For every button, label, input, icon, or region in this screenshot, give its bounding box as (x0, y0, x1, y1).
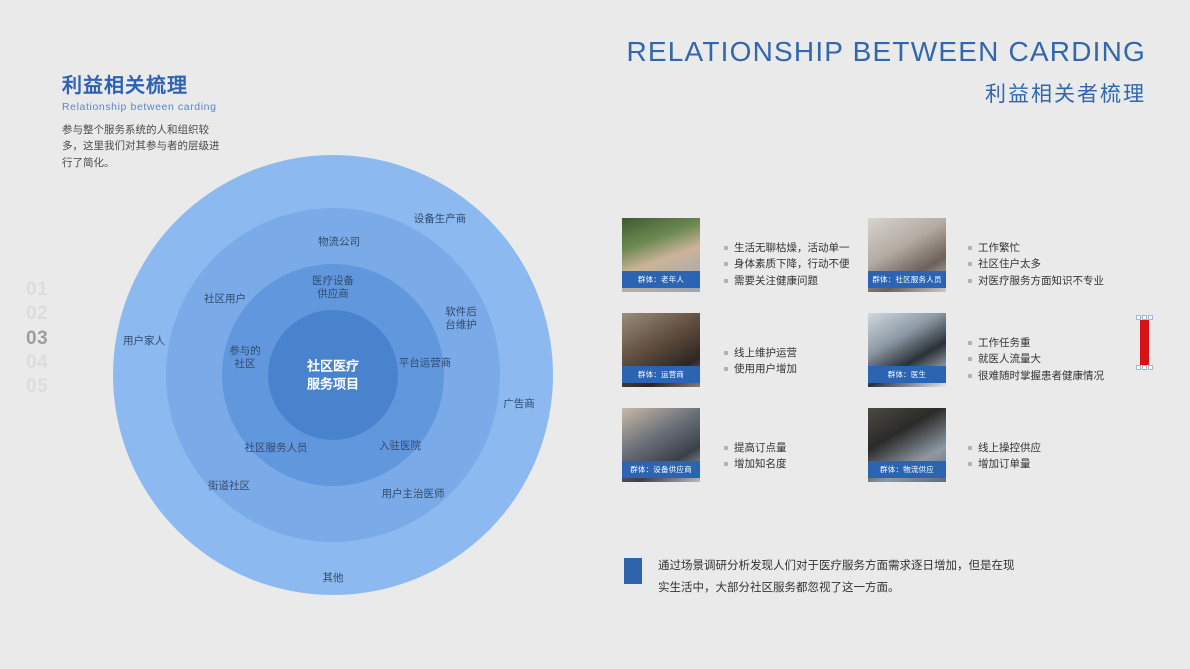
bullet-text: 对医疗服务方面知识不专业 (978, 273, 1104, 289)
bullet-text: 使用用户增加 (734, 361, 797, 377)
left-heading-en: Relationship between carding (62, 101, 272, 113)
bullet-text: 线上操控供应 (978, 440, 1041, 456)
circle-core-label-line2: 服务项目 (307, 375, 359, 393)
persona-thumb-wrap[interactable]: 群体：老年人 (622, 218, 700, 292)
bullet-text: 线上维护运营 (734, 345, 797, 361)
page-title-zh: 利益相关者梳理 (985, 78, 1146, 108)
persona-bullets-equipment-supplier: 提高订点量 增加知名度 (724, 408, 787, 473)
bullet-item: 很难随时掌握患者健康情况 (968, 368, 1104, 384)
bullet-item: 对医疗服务方面知识不专业 (968, 273, 1104, 289)
bullet-item: 增加知名度 (724, 456, 787, 472)
persona-card-elderly[interactable]: 群体：老年人 生活无聊枯燥，活动单一 身体素质下降，行动不便 需要关注健康问题 (622, 218, 868, 292)
bullet-dot-icon (724, 279, 728, 283)
persona-thumb-wrap[interactable]: 群体：物流供应 (868, 408, 946, 482)
circle-label-software-backend-2: 台维护 (445, 318, 477, 332)
resize-handle-bottom-center[interactable] (1142, 365, 1147, 370)
bullet-text: 就医人流量大 (978, 351, 1041, 367)
persona-card-equipment-supplier[interactable]: 群体：设备供应商 提高订点量 增加知名度 (622, 408, 868, 482)
resize-handle-top-right[interactable] (1148, 315, 1153, 320)
bullet-text: 身体素质下降，行动不便 (734, 256, 850, 272)
persona-grid: 群体：老年人 生活无聊枯燥，活动单一 身体素质下降，行动不便 需要关注健康问题 … (622, 218, 1152, 503)
bullet-text: 需要关注健康问题 (734, 273, 818, 289)
persona-bullets-logistics: 线上操控供应 增加订单量 (968, 408, 1041, 473)
bullet-text: 工作繁忙 (978, 240, 1020, 256)
bullet-dot-icon (724, 246, 728, 250)
bullet-dot-icon (968, 357, 972, 361)
resize-handle-top-center[interactable] (1142, 315, 1147, 320)
resize-handle-bottom-left[interactable] (1136, 365, 1141, 370)
bullet-item: 提高订点量 (724, 440, 787, 456)
circle-label-attending-doctor: 用户主治医师 (382, 487, 445, 501)
circle-core-label-line1: 社区医疗 (307, 357, 359, 375)
circle-label-user-family: 用户家人 (123, 334, 165, 348)
persona-card-community-staff[interactable]: 群体：社区服务人员 工作繁忙 社区住户太多 对医疗服务方面知识不专业 (868, 218, 1114, 292)
note-accent-bar (624, 558, 642, 584)
bullet-dot-icon (968, 462, 972, 466)
bullet-text: 很难随时掌握患者健康情况 (978, 368, 1104, 384)
persona-card-doctor[interactable]: 群体：医生 工作任务重 就医人流量大 很难随时掌握患者健康情况 (868, 313, 1114, 387)
bullet-text: 提高订点量 (734, 440, 787, 456)
persona-badge-community-staff: 群体：社区服务人员 (868, 271, 946, 288)
step-number-04[interactable]: 04 (26, 351, 66, 375)
persona-bullets-elderly: 生活无聊枯燥，活动单一 身体素质下降，行动不便 需要关注健康问题 (724, 218, 850, 289)
slide-canvas: 利益相关梳理 Relationship between carding 参与整个… (0, 0, 1190, 669)
circle-label-resident-hospital: 入驻医院 (379, 439, 421, 453)
bullet-dot-icon (724, 262, 728, 266)
note-text-line1: 通过场景调研分析发现人们对于医疗服务方面需求逐日增加，但是在现 (658, 556, 1098, 578)
bullet-dot-icon (724, 462, 728, 466)
bullet-text: 工作任务重 (978, 335, 1031, 351)
note-text-line2: 实生活中，大部分社区服务都忽视了这一方面。 (658, 578, 1098, 600)
step-number-01[interactable]: 01 (26, 278, 66, 302)
persona-row-2: 群体：运营商 线上维护运营 使用用户增加 群体：医生 工作任务重 就医人流量大 (622, 313, 1152, 387)
bullet-text: 社区住户太多 (978, 256, 1041, 272)
circle-label-community-user: 社区用户 (204, 292, 246, 306)
step-number-03[interactable]: 03 (26, 327, 66, 351)
step-number-02[interactable]: 02 (26, 302, 66, 326)
page-title-en: RELATIONSHIP BETWEEN CARDING (626, 36, 1146, 68)
persona-thumb-wrap[interactable]: 群体：医生 (868, 313, 946, 387)
circle-label-street-community: 街道社区 (208, 479, 250, 493)
persona-card-logistics[interactable]: 群体：物流供应 线上操控供应 增加订单量 (868, 408, 1114, 482)
bullet-item: 工作任务重 (968, 335, 1104, 351)
circle-label-logistics-company: 物流公司 (318, 235, 360, 249)
persona-badge-equipment-supplier: 群体：设备供应商 (622, 461, 700, 478)
circle-label-other: 其他 (323, 571, 344, 585)
left-heading-zh: 利益相关梳理 (62, 74, 272, 98)
circle-label-advertiser: 广告商 (503, 397, 535, 411)
bullet-item: 生活无聊枯燥，活动单一 (724, 240, 850, 256)
bullet-text: 增加订单量 (978, 456, 1031, 472)
circle-label-community-staff: 社区服务人员 (245, 441, 308, 455)
bullet-text: 生活无聊枯燥，活动单一 (734, 240, 850, 256)
left-heading-block: 利益相关梳理 Relationship between carding (62, 74, 272, 113)
persona-badge-operator: 群体：运营商 (622, 366, 700, 383)
bullet-dot-icon (968, 279, 972, 283)
bullet-dot-icon (968, 374, 972, 378)
bullet-item: 社区住户太多 (968, 256, 1104, 272)
circle-label-participating-community-2: 社区 (235, 357, 256, 371)
persona-bullets-doctor: 工作任务重 就医人流量大 很难随时掌握患者健康情况 (968, 313, 1104, 384)
circle-core-label: 社区医疗 服务项目 (307, 357, 359, 392)
persona-thumb-wrap[interactable]: 群体：运营商 (622, 313, 700, 387)
bullet-item: 需要关注健康问题 (724, 273, 850, 289)
bullet-item: 身体素质下降，行动不便 (724, 256, 850, 272)
bullet-item: 线上维护运营 (724, 345, 797, 361)
step-number-05[interactable]: 05 (26, 375, 66, 399)
persona-thumb-wrap[interactable]: 群体：设备供应商 (622, 408, 700, 482)
persona-row-1: 群体：老年人 生活无聊枯燥，活动单一 身体素质下降，行动不便 需要关注健康问题 … (622, 218, 1152, 292)
step-number-list: 01 02 03 04 05 (26, 278, 66, 400)
circle-label-platform-operator: 平台运营商 (399, 356, 452, 370)
circle-label-medical-device-2: 供应商 (317, 287, 349, 301)
bullet-dot-icon (724, 367, 728, 371)
bullet-dot-icon (968, 246, 972, 250)
bullet-dot-icon (968, 262, 972, 266)
resize-handle-bottom-right[interactable] (1148, 365, 1153, 370)
persona-card-operator[interactable]: 群体：运营商 线上维护运营 使用用户增加 (622, 313, 868, 387)
bullet-item: 增加订单量 (968, 456, 1041, 472)
summary-note: 通过场景调研分析发现人们对于医疗服务方面需求逐日增加，但是在现 实生活中，大部分… (624, 556, 1098, 600)
persona-badge-doctor: 群体：医生 (868, 366, 946, 383)
note-text: 通过场景调研分析发现人们对于医疗服务方面需求逐日增加，但是在现 实生活中，大部分… (658, 556, 1098, 600)
bullet-item: 就医人流量大 (968, 351, 1104, 367)
resize-handle-top-left[interactable] (1136, 315, 1141, 320)
bullet-dot-icon (968, 446, 972, 450)
bullet-item: 线上操控供应 (968, 440, 1041, 456)
bullet-item: 工作繁忙 (968, 240, 1104, 256)
bullet-item: 使用用户增加 (724, 361, 797, 377)
bullet-text: 增加知名度 (734, 456, 787, 472)
persona-thumb-wrap[interactable]: 群体：社区服务人员 (868, 218, 946, 292)
bullet-dot-icon (724, 351, 728, 355)
red-marker-shape[interactable] (1140, 320, 1149, 365)
persona-row-3: 群体：设备供应商 提高订点量 增加知名度 群体：物流供应 线上操控供应 增加订单… (622, 408, 1152, 482)
bullet-dot-icon (968, 341, 972, 345)
persona-badge-logistics: 群体：物流供应 (868, 461, 946, 478)
persona-bullets-community-staff: 工作繁忙 社区住户太多 对医疗服务方面知识不专业 (968, 218, 1104, 289)
circle-label-equipment-maker: 设备生产商 (414, 212, 467, 226)
persona-bullets-operator: 线上维护运营 使用用户增加 (724, 313, 797, 378)
bullet-dot-icon (724, 446, 728, 450)
persona-badge-elderly: 群体：老年人 (622, 271, 700, 288)
